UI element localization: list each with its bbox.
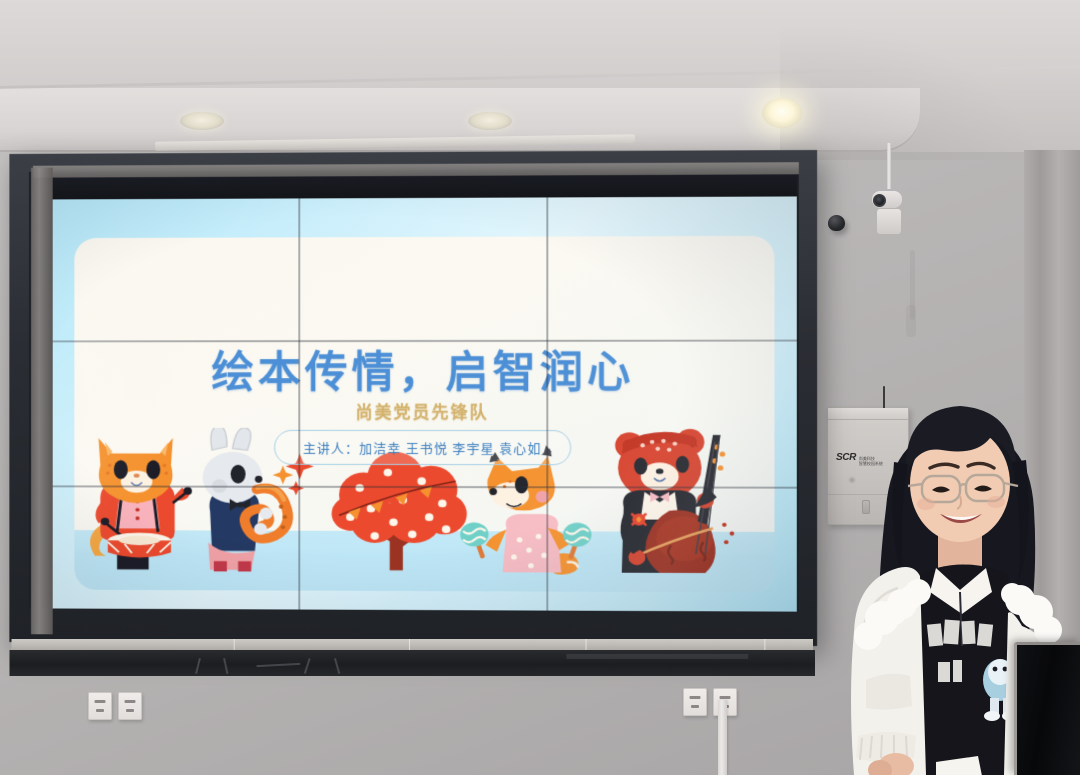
camera-lens-icon (873, 194, 886, 207)
lapel-flower (633, 514, 646, 526)
wall-outlet-left-2[interactable] (118, 692, 142, 720)
bear-bassist-figure (615, 429, 734, 573)
slide-card: 绘本传情，启智润心 尚美党员先锋队 主讲人：加洁幸 王书悦 李宇星 袁心如 (75, 236, 774, 593)
coat-pocket (866, 674, 912, 710)
classroom-scene: SCR 尚美科技 智慧校园系统 (0, 0, 1080, 775)
downlight-center-icon (468, 112, 512, 130)
video-wall-display[interactable]: 绘本传情，启智润心 尚美党员先锋队 主讲人：加洁幸 王书悦 李宇星 袁心如 (9, 150, 817, 646)
wall-sensor-icon (828, 215, 845, 231)
ceiling-curved-corner (780, 0, 1080, 160)
wall-outlet-right-1[interactable] (683, 688, 707, 716)
maraca-left (461, 523, 489, 559)
security-camera-icon (872, 183, 906, 233)
camera-mount-arm (877, 209, 901, 234)
cable-conduit (718, 700, 727, 775)
cat-drummer-figure (90, 439, 192, 571)
presentation-slide: 绘本传情，启智润心 尚美党员先锋队 主讲人：加洁幸 王书悦 李宇星 袁心如 (53, 196, 797, 611)
downlight-left-icon (180, 112, 224, 130)
display-reflection-panel (9, 650, 815, 676)
presenter-pill: 主讲人：加洁幸 王书悦 李宇星 袁心如 (274, 430, 571, 465)
slide-subtitle: 尚美党员先锋队 (75, 398, 774, 423)
laptop-monitor[interactable] (1014, 642, 1080, 775)
slide-title: 绘本传情，启智润心 (75, 338, 774, 400)
mount-rail-left (31, 168, 53, 635)
camera-mount-pole (887, 143, 891, 189)
wall-scuff-mark (906, 305, 916, 337)
wall-outlet-left-1[interactable] (88, 692, 112, 720)
tree-figure (332, 452, 467, 571)
downlight-right-lit-icon (762, 98, 802, 128)
video-wall-screen[interactable]: 绘本传情，启智润心 尚美党员先锋队 主讲人：加洁幸 王书悦 李宇星 袁心如 (53, 196, 797, 611)
